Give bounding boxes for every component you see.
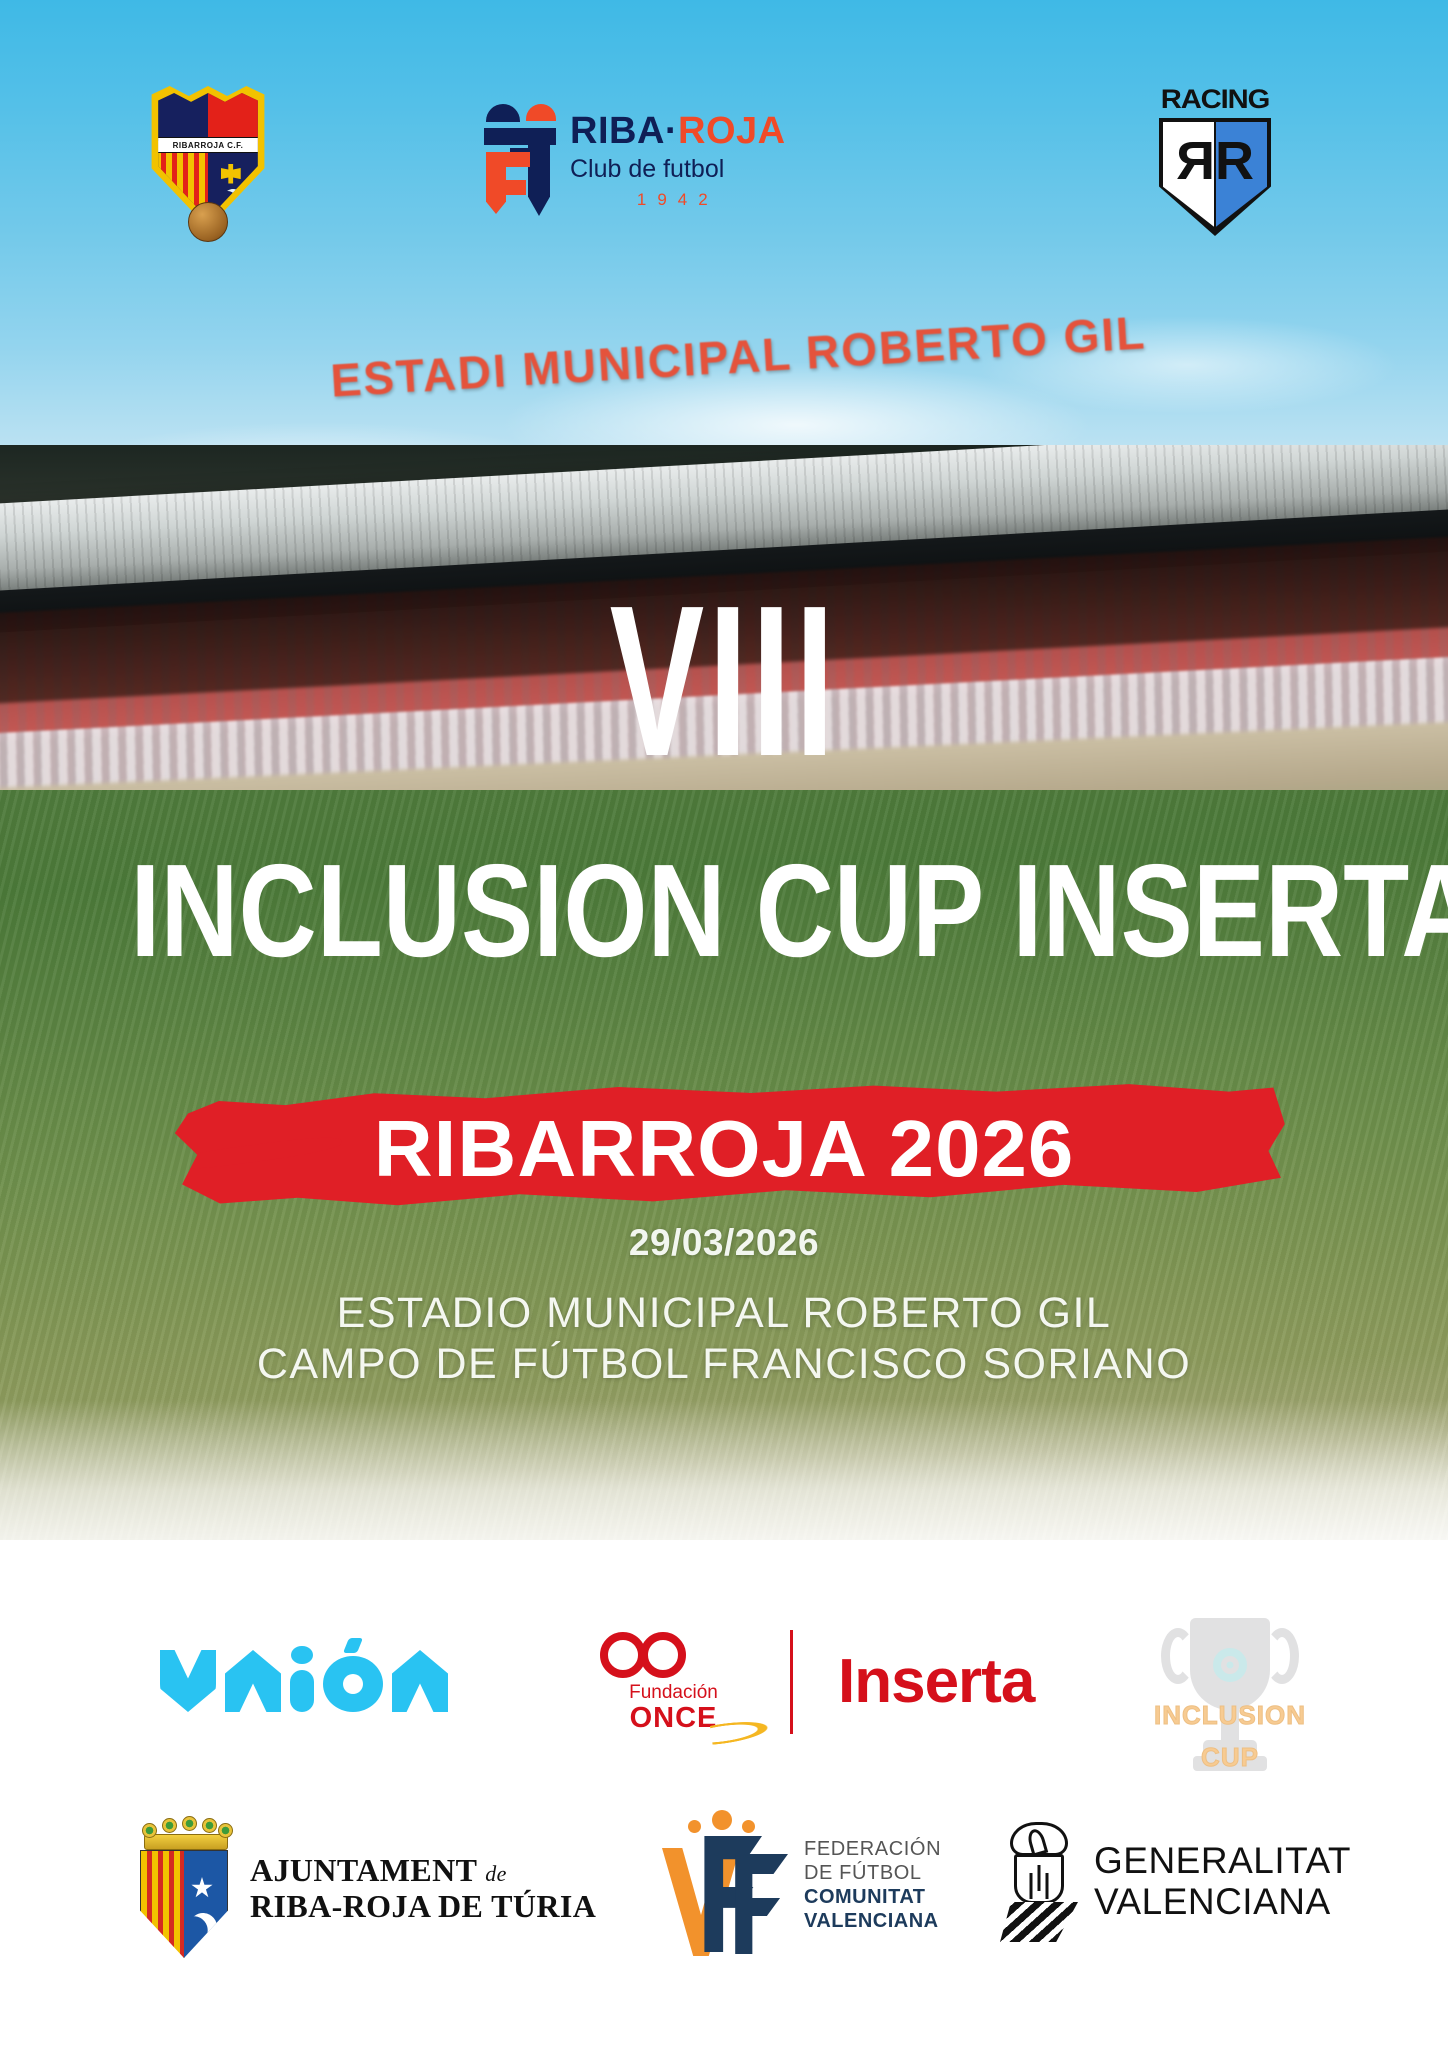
crown-jewel-3 xyxy=(182,1816,197,1831)
generalitat-wordmark: GENERALITAT VALENCIANA xyxy=(1094,1841,1351,1922)
monogram-dot-navy xyxy=(486,104,520,122)
riba-roja-wordmark: RIBA·ROJA Club de futbol 1942 xyxy=(570,112,786,208)
top-logo-row: RIBARROJA C.F. RIBA·ROJA Club de futb xyxy=(0,0,1448,300)
union-logo xyxy=(160,1640,448,1712)
riba-word: RIBA· xyxy=(570,110,678,152)
ffcv-line-4: VALENCIANA xyxy=(804,1909,941,1933)
edition-number: VIII xyxy=(246,582,1202,780)
crown-jewel-5 xyxy=(218,1823,233,1838)
ajuntament-line-1: AJUNTAMENT de xyxy=(250,1853,596,1889)
generalitat-line-2: VALENCIANA xyxy=(1094,1882,1351,1923)
event-date: 29/03/2026 xyxy=(0,1222,1448,1264)
racing-monogram: RR xyxy=(1159,134,1271,188)
trophy-emblem-icon xyxy=(1213,1648,1247,1682)
once-rings-icon xyxy=(586,1626,761,1680)
event-poster: RIBARROJA C.F. RIBA·ROJA Club de futb xyxy=(0,0,1448,2048)
ajuntament-coat-of-arms xyxy=(140,1820,232,1958)
fundacion-once-logo: Fundación ONCE xyxy=(586,1626,761,1738)
inserta-logo: Inserta xyxy=(838,1646,1034,1717)
ffcv-dots-icon xyxy=(688,1810,762,1834)
monogram-dot-orange xyxy=(526,104,556,121)
ajuntament-de-word: de xyxy=(485,1861,507,1886)
venue-line-2: CAMPO DE FÚTBOL FRANCISCO SORIANO xyxy=(0,1339,1448,1390)
ffcv-monogram-icon xyxy=(660,1810,790,1960)
racing-shield-icon: RR xyxy=(1159,118,1271,236)
ajuntament-line-2: RIBA-ROJA DE TÚRIA xyxy=(250,1889,596,1925)
sponsor-row-institutional: AJUNTAMENT de RIBA-ROJA DE TÚRIA FEDERAC… xyxy=(0,1800,1448,2000)
ffcv-wordmark: FEDERACIÓN DE FÚTBOL COMUNITAT VALENCIAN… xyxy=(804,1837,941,1933)
crest-cross-icon xyxy=(221,164,241,184)
football-icon xyxy=(188,202,228,242)
crown-icon xyxy=(140,1820,232,1850)
ribarroja-cf-crest: RIBARROJA C.F. xyxy=(148,86,268,228)
union-letter-n2 xyxy=(392,1650,448,1712)
roja-word: ROJA xyxy=(678,110,786,152)
red-banner: RIBARROJA 2026 xyxy=(0,1075,1448,1215)
riba-roja-club-de-futbol-logo: RIBA·ROJA Club de futbol 1942 xyxy=(480,100,800,220)
union-i-dot xyxy=(291,1646,313,1664)
event-headline: INCLUSION CUP INSERTA EMPLEO xyxy=(130,845,1317,977)
generalitat-line-1: GENERALITAT xyxy=(1094,1841,1351,1882)
crest-field: RIBARROJA C.F. xyxy=(155,93,261,219)
banner-text: RIBARROJA 2026 xyxy=(0,1103,1448,1195)
racing-crest: RACING RR xyxy=(1150,84,1280,244)
shield-senyera-half xyxy=(141,1851,184,1957)
generalitat-emblem-icon xyxy=(1000,1822,1078,1942)
union-letter-u xyxy=(160,1650,216,1712)
ffcv-line-2: DE FÚTBOL xyxy=(804,1861,941,1885)
sponsor-row-primary: Fundación ONCE Inserta INCLUSION CUP xyxy=(0,1590,1448,1790)
union-i-stem xyxy=(290,1670,314,1712)
generalitat-valenciana-logo: GENERALITAT VALENCIANA xyxy=(1000,1822,1351,1942)
federacion-futbol-comunitat-valenciana-logo: FEDERACIÓN DE FÚTBOL COMUNITAT VALENCIAN… xyxy=(660,1810,941,1960)
senyera-stripes-icon xyxy=(1000,1902,1078,1942)
ajuntament-main-word: AJUNTAMENT xyxy=(250,1852,477,1888)
once-ring-right xyxy=(640,1632,686,1678)
riba-roja-title: RIBA·ROJA xyxy=(570,112,786,150)
trophy-line-2: CUP xyxy=(1145,1742,1315,1773)
crown-jewel-4 xyxy=(202,1818,217,1833)
crest-quarter-red xyxy=(208,93,261,143)
event-venue: ESTADIO MUNICIPAL ROBERTO GIL CAMPO DE F… xyxy=(0,1288,1448,1389)
crown-jewel-2 xyxy=(162,1818,177,1833)
crest-name-band: RIBARROJA C.F. xyxy=(158,137,258,153)
monogram-r-red-arm2 xyxy=(486,180,526,195)
crest-band-text: RIBARROJA C.F. xyxy=(158,138,258,153)
crown-jewel-1 xyxy=(142,1823,157,1838)
ffcv-line-1: FEDERACIÓN xyxy=(804,1837,941,1861)
once-line-1: Fundación xyxy=(586,1682,761,1704)
union-o-ring xyxy=(323,1656,383,1712)
bat-crest-icon xyxy=(1010,1822,1068,1856)
monogram-r-red-arm1 xyxy=(486,152,530,167)
ajuntament-shield-icon xyxy=(140,1850,228,1958)
riba-roja-year: 1942 xyxy=(570,191,786,208)
trophy-line-1: INCLUSION xyxy=(1145,1700,1315,1731)
shield-blue-half xyxy=(184,1851,227,1957)
logo-divider xyxy=(790,1630,793,1734)
union-letter-i xyxy=(290,1646,314,1712)
union-accent-mark xyxy=(343,1638,363,1653)
trophy-handle-right xyxy=(1265,1628,1299,1684)
inclusion-cup-trophy-logo: INCLUSION CUP xyxy=(1145,1604,1315,1794)
riba-roja-monogram-icon xyxy=(480,104,554,216)
generalitat-shield-icon xyxy=(1014,1854,1064,1904)
crown-band xyxy=(144,1834,228,1850)
racing-wordmark: RACING xyxy=(1145,84,1285,115)
ffcv-line-3: COMUNITAT xyxy=(804,1885,941,1909)
monogram-r-navy xyxy=(528,128,550,216)
venue-line-1: ESTADIO MUNICIPAL ROBERTO GIL xyxy=(0,1288,1448,1339)
union-letter-n1 xyxy=(225,1650,281,1712)
union-letter-o xyxy=(323,1638,383,1712)
ajuntament-wordmark: AJUNTAMENT de RIBA-ROJA DE TÚRIA xyxy=(250,1853,596,1925)
riba-roja-subtitle: Club de futbol xyxy=(570,157,786,182)
ajuntament-riba-roja-de-turia-logo: AJUNTAMENT de RIBA-ROJA DE TÚRIA xyxy=(140,1820,596,1958)
